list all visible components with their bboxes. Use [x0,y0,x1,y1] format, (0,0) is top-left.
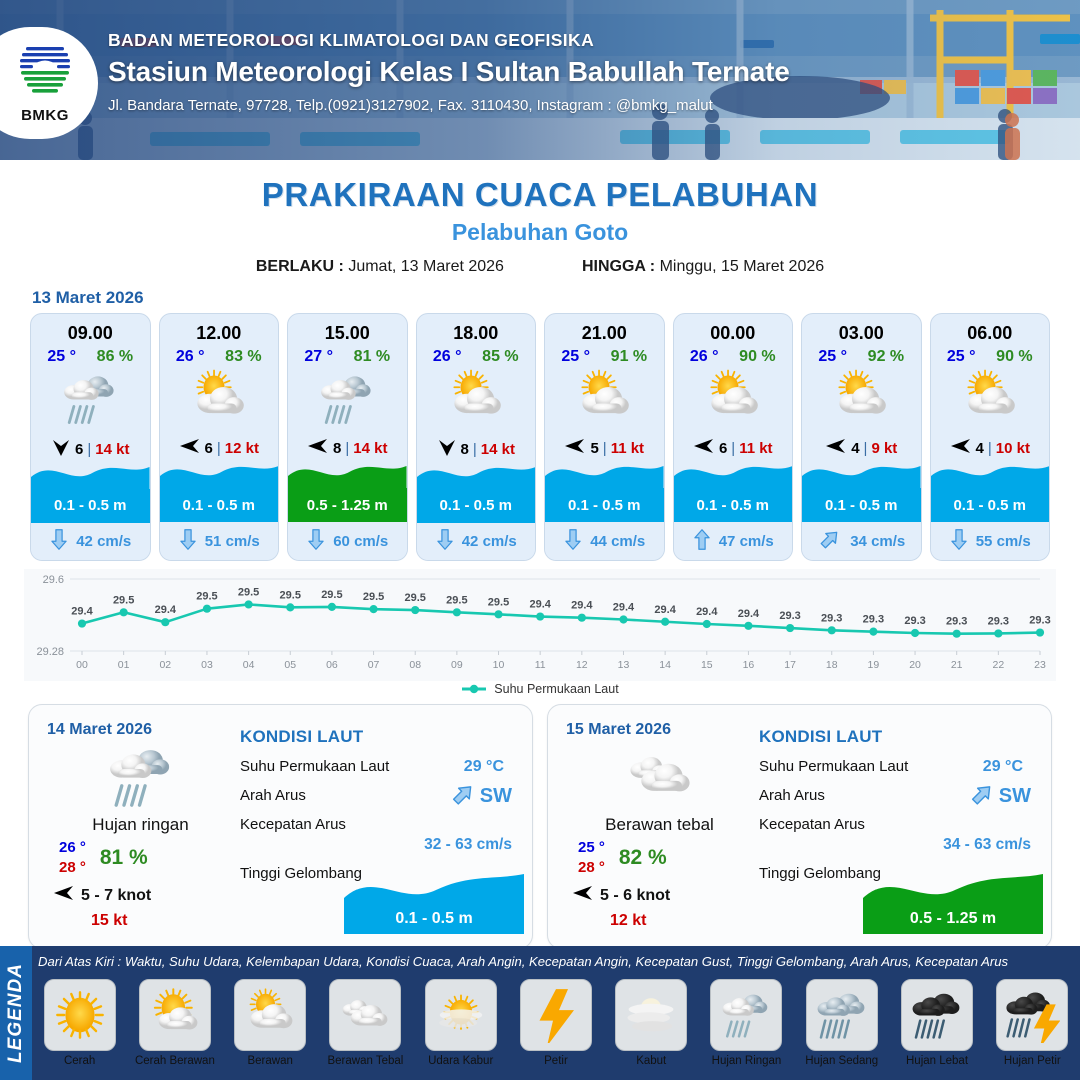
current-direction-value: SW [480,785,512,808]
weather-cerah-icon [44,979,116,1051]
hourly-current-speed: 51 cm/s [205,533,260,550]
hourly-gust: 11 kt [739,440,772,457]
daily-forecast-card[interactable]: 15 Maret 2026 Berawan tebal 25 ° 28 ° 82… [547,704,1052,949]
hourly-wind: 4 | 10 kt [931,436,1050,460]
current-speed-label: Kecepatan Arus [240,816,346,833]
bmkg-logo-text: BMKG [14,107,76,124]
hourly-temperature: 25 ° [947,348,976,366]
wave-shape-icon [31,463,150,489]
chart-legend-marker-icon [461,683,487,695]
daily-wind: 5 - 6 knot [566,883,753,908]
daily-left-column: 15 Maret 2026 Berawan tebal 25 ° 28 ° 82… [548,705,753,948]
legend-item-label: Cerah Berawan [135,1055,215,1067]
hourly-card[interactable]: 18.00 26 ° 85 % 8 | 14 kt 0.1 - 0 [416,313,537,561]
wind-separator: | [87,441,91,458]
hourly-temp-humidity: 25 ° 90 % [931,344,1050,366]
hourly-temperature: 26 ° [176,348,205,366]
sea-condition-title: KONDISI LAUT [240,727,518,747]
daily-temp-max: 28 ° [578,859,605,876]
hourly-current: 60 cm/s [288,522,407,560]
hourly-current: 34 cm/s [802,522,921,560]
svg-text:03: 03 [201,659,213,671]
daily-temp-min: 25 ° [578,839,605,856]
daily-wind: 5 - 7 knot [47,883,234,908]
hourly-humidity: 83 % [225,348,261,366]
berlaku-group: BERLAKU : Jumat, 13 Maret 2026 [256,258,504,276]
legend-item: Cerah [34,979,125,1080]
daily-date: 15 Maret 2026 [566,721,753,739]
svg-text:29.4: 29.4 [654,604,676,616]
sst-value: 29 °C [983,758,1023,776]
hourly-card[interactable]: 03.00 25 ° 92 % 4 | 9 kt 0.1 - 0. [801,313,922,561]
current-direction-group: SW [968,781,1031,812]
hourly-wave-height: 0.1 - 0.5 m [31,489,150,523]
wind-direction-w-icon [53,883,75,908]
wind-direction-w-icon [825,436,847,460]
legend-item-label: Berawan [247,1055,292,1067]
hourly-time: 15.00 [288,314,407,344]
legend-item-label: Hujan Sedang [805,1055,878,1067]
legend-item: Udara Kabur [415,979,506,1080]
hourly-wave-height: 0.1 - 0.5 m [160,488,279,522]
sst-row: Suhu Permukaan Laut 29 °C [240,758,518,776]
svg-text:00: 00 [76,659,88,671]
wind-direction-w-icon [564,436,586,460]
hourly-gust: 11 kt [611,440,644,457]
current-direction-s-icon [949,528,969,555]
daily-date: 14 Maret 2026 [47,721,234,739]
hourly-temperature: 26 ° [690,348,719,366]
hourly-current: 44 cm/s [545,522,664,560]
daily-left-column: 14 Maret 2026 Hujan ringan 26 ° 28 ° [29,705,234,948]
current-speed-label: Kecepatan Arus [759,816,865,833]
daily-temp-column: 26 ° 28 ° [59,839,86,876]
current-direction-n-icon [692,528,712,555]
svg-text:02: 02 [159,659,171,671]
wind-direction-w-icon [572,883,594,908]
station-name: Stasiun Meteorologi Kelas I Sultan Babul… [108,56,790,88]
chart-legend: Suhu Permukaan Laut [0,682,1080,696]
svg-text:29.3: 29.3 [904,615,925,627]
bmkg-emblem-icon [14,43,76,101]
daily-temp-max: 28 ° [59,859,86,876]
weather-berawan-tebal-icon [566,741,753,813]
hourly-gust: 14 kt [353,440,387,457]
hourly-wind: 8 | 14 kt [288,436,407,460]
svg-text:29.3: 29.3 [779,610,800,622]
svg-text:22: 22 [993,659,1005,671]
agency-name: BADAN METEOROLOGI KLIMATOLOGI DAN GEOFIS… [108,30,790,51]
hourly-wave: 0.1 - 0.5 m [545,460,664,522]
wind-separator: | [731,440,735,457]
weather-hujan-ringan-icon [288,368,407,430]
hourly-wind: 6 | 14 kt [31,436,150,462]
current-direction-label: Arah Arus [240,787,306,804]
current-direction-s-icon [178,528,198,555]
sst-chart: 29.629.280001020304050607080910111213141… [24,569,1056,681]
hourly-wave: 0.1 - 0.5 m [802,460,921,522]
hourly-humidity: 90 % [739,348,775,366]
svg-text:10: 10 [493,659,505,671]
hourly-humidity: 92 % [868,348,904,366]
hourly-wave-height: 0.1 - 0.5 m [674,488,793,522]
svg-text:29.3: 29.3 [988,615,1009,627]
svg-text:29.4: 29.4 [738,608,760,620]
weather-hujan-ringan-icon [47,741,234,813]
hourly-humidity: 86 % [97,348,133,366]
svg-text:29.5: 29.5 [113,594,134,606]
hourly-wave: 0.5 - 1.25 m [288,460,407,522]
berlaku-value: Jumat, 13 Maret 2026 [348,258,504,275]
sst-chart-svg: 29.629.280001020304050607080910111213141… [24,569,1056,681]
chart-legend-label: Suhu Permukaan Laut [494,682,618,696]
wave-shape-icon [417,463,536,489]
hourly-wind-speed: 6 [205,440,213,457]
hourly-wave-height: 0.5 - 1.25 m [288,488,407,522]
current-direction-sw-icon [968,781,997,812]
wind-direction-w-icon [179,436,201,460]
hourly-current-speed: 34 cm/s [850,533,905,550]
legend-item: Cerah Berawan [129,979,220,1080]
hourly-card[interactable]: 12.00 26 ° 83 % 6 | 12 kt 0.1 - 0 [159,313,280,561]
hourly-humidity: 91 % [611,348,647,366]
page-header: BMKG BADAN METEOROLOGI KLIMATOLOGI DAN G… [0,0,1080,160]
svg-text:29.4: 29.4 [613,602,635,614]
svg-text:29.5: 29.5 [321,589,342,601]
weather-udara-kabur-icon [425,979,497,1051]
weather-hujan-ringan-icon [710,979,782,1051]
legend-item: Kabut [606,979,697,1080]
hourly-wind: 8 | 14 kt [417,436,536,462]
daily-temps: 25 ° 28 ° 82 % [566,839,753,876]
hourly-wave-height: 0.1 - 0.5 m [931,488,1050,522]
hourly-time: 03.00 [802,314,921,344]
svg-text:21: 21 [951,659,963,671]
hourly-wind-speed: 6 [719,440,727,457]
legend-item-label: Kabut [636,1055,666,1067]
hourly-time: 21.00 [545,314,664,344]
hourly-temperature: 27 ° [304,348,333,366]
hourly-forecast-row: 09.00 25 ° 86 % 6 | 14 kt [0,313,1080,561]
hourly-temp-humidity: 25 ° 92 % [802,344,921,366]
daily-forecast-row: 14 Maret 2026 Hujan ringan 26 ° 28 ° [0,696,1080,949]
daily-humidity: 81 % [100,846,148,870]
svg-text:08: 08 [409,659,421,671]
daily-forecast-card[interactable]: 14 Maret 2026 Hujan ringan 26 ° 28 ° [28,704,533,949]
wave-shape-icon [288,462,407,488]
title-block: PRAKIRAAN CUACA PELABUHAN Pelabuhan Goto… [0,160,1080,276]
wind-direction-s-icon [437,436,457,462]
daily-humidity: 82 % [619,846,667,870]
daily-gust: 15 kt [47,912,234,930]
weather-kabut-icon [615,979,687,1051]
daily-wave-graphic: 0.1 - 0.5 m [344,872,524,934]
hourly-gust: 9 kt [871,440,897,457]
sst-label: Suhu Permukaan Laut [240,758,389,775]
hourly-current-speed: 42 cm/s [462,533,517,550]
wind-separator: | [603,440,607,457]
hourly-humidity: 85 % [482,348,518,366]
weather-hujan-sedang-icon [806,979,878,1051]
legend-item: Hujan Ringan [701,979,792,1080]
daily-wind-speed: 5 - 7 knot [81,887,151,905]
legend-icon-row: Cerah Cerah Berawan Berawan [34,979,1078,1080]
legend-item-label: Hujan Petir [1004,1055,1061,1067]
weather-hujan-lebat-icon [901,979,973,1051]
hourly-card[interactable]: 21.00 25 ° 91 % 5 | 11 kt 0.1 - 0 [544,313,665,561]
current-direction-s-icon [306,528,326,555]
hourly-temp-humidity: 25 ° 86 % [31,344,150,366]
current-direction-s-icon [563,528,583,555]
legend-item: Hujan Lebat [891,979,982,1080]
svg-text:16: 16 [743,659,755,671]
current-direction-sw-icon [449,781,478,812]
svg-text:04: 04 [243,659,255,671]
berlaku-label: BERLAKU : [256,258,344,275]
hourly-wind-speed: 4 [976,440,984,457]
hourly-current-speed: 60 cm/s [333,533,388,550]
wind-separator: | [864,440,868,457]
wave-shape-icon [160,462,279,488]
current-direction-s-icon [435,528,455,555]
hourly-gust: 10 kt [996,440,1030,457]
hourly-current: 42 cm/s [31,523,150,560]
legend-item-label: Udara Kabur [428,1055,493,1067]
current-direction-group: SW [449,781,512,812]
hourly-wave: 0.1 - 0.5 m [160,460,279,522]
hourly-wave: 0.1 - 0.5 m [417,462,536,523]
hourly-temperature: 25 ° [561,348,590,366]
svg-text:20: 20 [909,659,921,671]
wind-direction-w-icon [307,436,329,460]
sst-value: 29 °C [464,758,504,776]
daily-wave-height-value: 0.1 - 0.5 m [344,910,524,928]
weather-hujan-ringan-icon [31,368,150,430]
current-speed-value: 32 - 63 cm/s [240,836,518,854]
hourly-card[interactable]: 06.00 25 ° 90 % 4 | 10 kt 0.1 - 0 [930,313,1051,561]
svg-text:29.5: 29.5 [405,592,426,604]
wave-shape-icon [931,462,1050,488]
hourly-gust: 14 kt [95,441,129,458]
legend-item: Berawan [225,979,316,1080]
weather-cerah-berawan-icon [139,979,211,1051]
weather-hujan-petir-icon [996,979,1068,1051]
current-direction-s-icon [49,528,69,555]
hourly-temperature: 25 ° [47,348,76,366]
svg-text:17: 17 [784,659,796,671]
hourly-temp-humidity: 26 ° 85 % [417,344,536,366]
legend-item-label: Berawan Tebal [327,1055,403,1067]
weather-berawan-icon [545,368,664,430]
hourly-wind-speed: 4 [851,440,859,457]
legend-side-label: LEGENDA [0,946,32,1080]
svg-text:29.3: 29.3 [946,616,967,628]
hourly-time: 09.00 [31,314,150,344]
daily-wind-speed: 5 - 6 knot [600,887,670,905]
legend-item-label: Hujan Lebat [906,1055,968,1067]
legend-item-label: Cerah [64,1055,95,1067]
wave-shape-icon [674,462,793,488]
hourly-current: 47 cm/s [674,522,793,560]
legend-item: Berawan Tebal [320,979,411,1080]
svg-text:29.5: 29.5 [196,591,217,603]
wave-shape-icon [802,462,921,488]
weather-berawan-tebal-icon [329,979,401,1051]
current-speed-value: 34 - 63 cm/s [759,836,1037,854]
hourly-wave: 0.1 - 0.5 m [31,462,150,523]
hingga-value: Minggu, 15 Maret 2026 [660,258,825,275]
svg-text:13: 13 [618,659,630,671]
hourly-wave-height: 0.1 - 0.5 m [802,488,921,522]
sst-label: Suhu Permukaan Laut [759,758,908,775]
daily-temp-column: 25 ° 28 ° [578,839,605,876]
svg-text:19: 19 [868,659,880,671]
wind-direction-w-icon [693,436,715,460]
svg-text:09: 09 [451,659,463,671]
svg-text:29.4: 29.4 [155,604,177,616]
weather-berawan-icon [802,368,921,430]
hourly-current-speed: 47 cm/s [719,533,774,550]
hourly-time: 12.00 [160,314,279,344]
svg-text:23: 23 [1034,659,1046,671]
daily-sea-conditions: KONDISI LAUT Suhu Permukaan Laut 29 °C A… [753,705,1051,948]
wind-separator: | [988,440,992,457]
hourly-wind-speed: 5 [590,440,598,457]
wind-direction-w-icon [950,436,972,460]
current-direction-row: Arah Arus SW [240,787,518,805]
legend-bar: LEGENDA Dari Atas Kiri : Waktu, Suhu Uda… [0,946,1080,1080]
hourly-wind: 4 | 9 kt [802,436,921,460]
svg-text:29.4: 29.4 [571,600,593,612]
hourly-wind-speed: 8 [333,440,341,457]
legend-item-label: Hujan Ringan [712,1055,782,1067]
hingga-label: HINGGA : [582,258,655,275]
hourly-time: 18.00 [417,314,536,344]
svg-text:29.3: 29.3 [821,612,842,624]
weather-berawan-icon [160,368,279,430]
page-subtitle: Pelabuhan Goto [0,219,1080,246]
hourly-current: 51 cm/s [160,522,279,560]
current-speed-row: Kecepatan Arus 34 - 63 cm/s [759,816,1037,854]
svg-text:18: 18 [826,659,838,671]
svg-text:29.4: 29.4 [696,606,718,618]
daily-temps: 26 ° 28 ° 81 % [47,839,234,876]
svg-text:29.5: 29.5 [488,596,509,608]
hourly-current-speed: 55 cm/s [976,533,1031,550]
hourly-temperature: 25 ° [818,348,847,366]
hourly-wind: 6 | 11 kt [674,436,793,460]
legend-item-label: Petir [544,1055,568,1067]
daily-wave-height-value: 0.5 - 1.25 m [863,910,1043,928]
sea-condition-title: KONDISI LAUT [759,727,1037,747]
hourly-current: 42 cm/s [417,523,536,560]
svg-text:29.5: 29.5 [363,591,384,603]
wind-separator: | [345,440,349,457]
daily-gust: 12 kt [566,912,753,930]
current-speed-row: Kecepatan Arus 32 - 63 cm/s [240,816,518,854]
hourly-card[interactable]: 00.00 26 ° 90 % 6 | 11 kt 0.1 - 0 [673,313,794,561]
wind-separator: | [217,440,221,457]
hourly-date-label: 13 Maret 2026 [32,288,1080,308]
svg-text:29.4: 29.4 [529,599,551,611]
svg-text:29.28: 29.28 [36,646,64,658]
weather-berawan-icon [234,979,306,1051]
daily-temp-min: 26 ° [59,839,86,856]
hourly-wind-speed: 8 [461,441,469,458]
weather-berawan-icon [417,368,536,430]
hourly-humidity: 81 % [354,348,390,366]
legend-side-text: LEGENDA [5,963,27,1063]
station-address: Jl. Bandara Ternate, 97728, Telp.(0921)3… [108,97,790,114]
hourly-wave-height: 0.1 - 0.5 m [417,489,536,523]
hourly-time: 06.00 [931,314,1050,344]
sst-row: Suhu Permukaan Laut 29 °C [759,758,1037,776]
hourly-gust: 14 kt [481,441,515,458]
svg-text:07: 07 [368,659,380,671]
current-direction-label: Arah Arus [759,787,825,804]
svg-text:29.5: 29.5 [280,589,301,601]
current-direction-sw-icon [817,527,843,555]
hourly-temp-humidity: 26 ° 90 % [674,344,793,366]
legend-note: Dari Atas Kiri : Waktu, Suhu Udara, Kele… [38,954,1076,969]
hingga-group: HINGGA : Minggu, 15 Maret 2026 [582,258,824,276]
svg-text:12: 12 [576,659,588,671]
hourly-wind: 6 | 12 kt [160,436,279,460]
weather-petir-icon [520,979,592,1051]
svg-text:11: 11 [535,659,546,671]
hourly-temp-humidity: 25 ° 91 % [545,344,664,366]
hourly-wave: 0.1 - 0.5 m [674,460,793,522]
legend-item: Hujan Petir [987,979,1078,1080]
hourly-card[interactable]: 15.00 27 ° 81 % 8 | 14 kt [287,313,408,561]
hourly-current-speed: 44 cm/s [590,533,645,550]
hourly-card[interactable]: 09.00 25 ° 86 % 6 | 14 kt [30,313,151,561]
daily-condition: Hujan ringan [47,815,234,835]
svg-text:06: 06 [326,659,338,671]
hourly-humidity: 90 % [996,348,1032,366]
hourly-wind-speed: 6 [75,441,83,458]
weather-berawan-icon [674,368,793,430]
hourly-gust: 12 kt [225,440,259,457]
page-title: PRAKIRAAN CUACA PELABUHAN [0,176,1080,214]
hourly-time: 00.00 [674,314,793,344]
wind-direction-s-icon [51,436,71,462]
hourly-wave: 0.1 - 0.5 m [931,460,1050,522]
svg-text:29.5: 29.5 [238,586,259,598]
svg-text:29.3: 29.3 [863,614,884,626]
daily-wave-graphic: 0.5 - 1.25 m [863,872,1043,934]
svg-text:29.6: 29.6 [43,574,64,586]
svg-text:05: 05 [284,659,296,671]
daily-sea-conditions: KONDISI LAUT Suhu Permukaan Laut 29 °C A… [234,705,532,948]
hourly-temperature: 26 ° [433,348,462,366]
svg-text:29.5: 29.5 [446,594,467,606]
svg-text:29.3: 29.3 [1029,615,1050,627]
legend-item: Petir [510,979,601,1080]
weather-berawan-icon [931,368,1050,430]
hourly-temp-humidity: 26 ° 83 % [160,344,279,366]
hourly-current-speed: 42 cm/s [76,533,131,550]
validity-row: BERLAKU : Jumat, 13 Maret 2026 HINGGA : … [0,258,1080,276]
daily-condition: Berawan tebal [566,815,753,835]
svg-text:29.4: 29.4 [71,606,93,618]
wave-shape-icon [545,462,664,488]
legend-item: Hujan Sedang [796,979,887,1080]
current-direction-row: Arah Arus SW [759,787,1037,805]
hourly-temp-humidity: 27 ° 81 % [288,344,407,366]
svg-text:14: 14 [659,659,671,671]
svg-text:01: 01 [118,659,130,671]
